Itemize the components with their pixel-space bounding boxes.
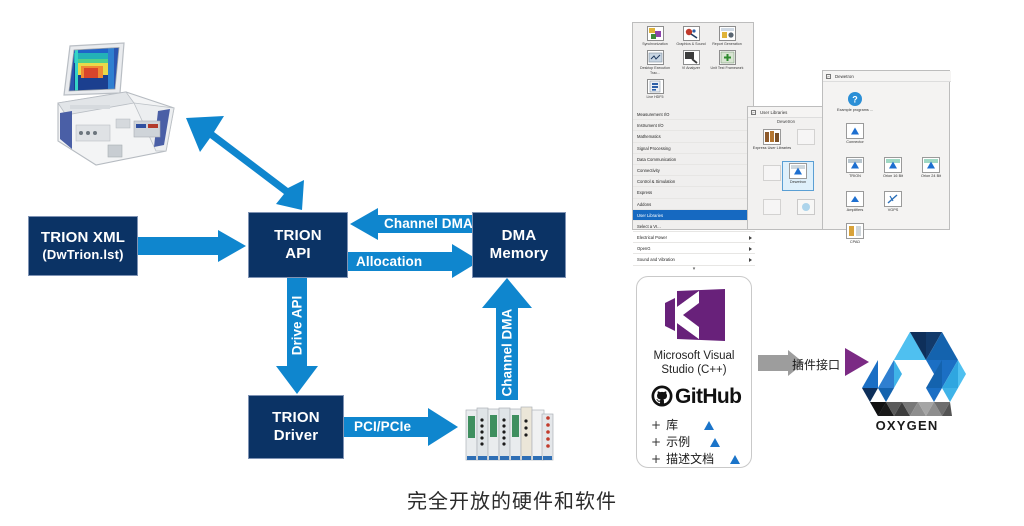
dewetron-palette-window[interactable]: ⌐ Dewetron ? Example programs ... Connec… (822, 70, 950, 230)
label-pci-pcie: PCI/PCIe (354, 419, 411, 434)
express-user-libraries-icon (763, 129, 781, 145)
bullet-marker: + (651, 418, 661, 432)
palette-icon-report-generation[interactable]: Report Generation (709, 26, 745, 46)
palette-icon-example-programs[interactable]: ? Example programs ... (833, 91, 877, 113)
bullet-label: 库 (666, 418, 678, 432)
vi-analyzer-icon (683, 50, 700, 65)
palette-icon-label: VGPS (871, 208, 915, 213)
oxygen-label: OXYGEN (842, 418, 972, 433)
arrow-channel-dma-vertical: Channel DMA (482, 278, 534, 400)
palette-icon-synchronization[interactable]: Synchronization (637, 26, 673, 46)
connector-icon (846, 123, 864, 139)
palette-icon-connector[interactable]: Connector (833, 123, 877, 145)
arrow-pci-pcie: PCI/PCIe (344, 408, 464, 446)
pin-icon[interactable]: ⌐ (751, 110, 756, 115)
dewetron-window-title-bar: ⌐ Dewetron (823, 71, 951, 82)
chevron-right-icon (749, 258, 752, 262)
trion-icon (846, 157, 864, 173)
chevron-right-icon (749, 247, 752, 251)
box-trion-api-title: TRION (274, 227, 322, 245)
triangle-icon (851, 128, 859, 135)
chevron-right-icon (749, 236, 752, 240)
palette-icon-label: Graphics & Sound (673, 42, 709, 46)
box-trion-driver[interactable]: TRION Driver (248, 395, 344, 459)
menu-item-label: Addons (637, 202, 651, 207)
github-label: GitHub (675, 385, 741, 409)
visual-studio-label-line1: Microsoft Visual (637, 349, 751, 363)
menu-item-select-a-vi[interactable]: Select a VI... (633, 221, 755, 232)
user-libraries-subtitle: Dewetron (748, 119, 824, 124)
dewetron-icon (789, 163, 807, 179)
box-trion-api[interactable]: TRION API (248, 212, 348, 278)
label-channel-dma-vertical: Channel DMA (500, 311, 515, 397)
dewetron-triangle-icon (710, 438, 720, 447)
github-list-item: +示例 (651, 434, 749, 451)
arrow-allocation: Allocation (348, 244, 482, 278)
menu-item-openg[interactable]: OpenG (633, 243, 755, 254)
box-trion-xml-title: TRION XML (41, 229, 125, 247)
palette-icon-label: Dewetron (776, 180, 820, 185)
palette-icon-unit-test-framework[interactable]: Unit Test Framework (709, 50, 745, 75)
arrow-channel-dma-top: Channel DMA (350, 208, 482, 240)
menu-item-label: Sound and Vibration (637, 257, 675, 262)
user-libraries-panel[interactable]: ⌐ User Libraries Dewetron Express User L… (747, 106, 823, 230)
functions-menu-list[interactable]: Measurement I/O Instrument I/O Mathemati… (633, 109, 755, 276)
menu-item-mathematics[interactable]: Mathematics (633, 131, 755, 142)
palette-icon-graphics-sound[interactable]: Graphics & Sound (673, 26, 709, 46)
menu-item-connectivity[interactable]: Connectivity (633, 165, 755, 176)
desktop-execution-trace-icon (647, 50, 664, 65)
bullet-marker: + (651, 435, 661, 449)
palette-icon-label: Connector (833, 140, 877, 145)
triangle-icon (889, 162, 897, 169)
live-hdf5-icon (647, 79, 664, 94)
oxygen-logo: OXYGEN (842, 312, 972, 442)
graphics-sound-icon (683, 26, 700, 41)
palette-icon-label: VI Analyzer (673, 66, 709, 70)
github-list-item: +库 (651, 417, 749, 434)
dewetron-window-title: Dewetron (835, 74, 854, 79)
menu-scroll-down-arrow[interactable]: ▾ (633, 266, 755, 276)
slide-canvas: TRION API Interface TRION XML (DwTrion.l… (0, 0, 1024, 526)
dewetron-triangle-icon (730, 455, 740, 464)
trion-modules-image (464, 404, 556, 466)
vgps-icon (884, 191, 902, 207)
menu-item-label: OpenG (637, 246, 651, 251)
palette-icon-orion-24bit[interactable]: Orion 24 Bit (909, 157, 953, 179)
placeholder-icon (763, 199, 781, 215)
dewetron-triangle-icon (794, 168, 802, 175)
menu-item-data-communication[interactable]: Data Communication (633, 154, 755, 165)
placeholder-icon (797, 129, 815, 145)
menu-item-label: Electrical Power (637, 235, 667, 240)
labview-palette-screenshot: Synchronization Graphics & Sound Report … (632, 22, 950, 234)
menu-item-label: Data Communication (637, 157, 676, 162)
palette-icon-label: Example programs ... (833, 108, 877, 113)
palette-icon-grid: Synchronization Graphics & Sound Report … (637, 26, 751, 104)
palette-icon-label: Synchronization (637, 42, 673, 46)
palette-icon-dewetron[interactable]: Dewetron (776, 163, 820, 185)
orion-16bit-icon (884, 157, 902, 173)
github-contents-list: +库 +示例 +描述文档 (651, 417, 749, 468)
label-allocation: Allocation (356, 254, 422, 269)
user-libraries-title: User Libraries (760, 110, 787, 115)
palette-icon-vi-analyzer[interactable]: VI Analyzer (673, 50, 709, 75)
orion-24bit-icon (922, 157, 940, 173)
palette-icon-desktop-execution-trace[interactable]: Desktop Execution Trac... (637, 50, 673, 75)
box-dma-memory[interactable]: DMA Memory (472, 212, 566, 278)
triangle-icon (927, 162, 935, 169)
palette-icon-live-hdf5[interactable]: Live HDF5 (637, 79, 673, 99)
report-generation-icon (719, 26, 736, 41)
box-trion-api-subtitle: API (285, 245, 311, 263)
menu-item-label: Select a VI... (637, 224, 661, 229)
menu-item-instrument-io[interactable]: Instrument I/O (633, 120, 755, 131)
box-dma-memory-subtitle: Memory (490, 245, 549, 263)
box-dma-memory-title: DMA (502, 227, 537, 245)
placeholder-icon (797, 199, 815, 215)
arrow-xml-to-api (138, 230, 248, 262)
menu-item-label: Express (637, 190, 652, 195)
bullet-label: 示例 (666, 435, 690, 449)
functions-palette-panel[interactable]: Synchronization Graphics & Sound Report … (632, 22, 754, 230)
menu-item-control-simulation[interactable]: Control & Simulation (633, 176, 755, 187)
bullet-label: 描述文档 (666, 452, 714, 466)
palette-icon-label: Unit Test Framework (709, 66, 745, 70)
palette-icon-label: CPAD (833, 240, 877, 245)
visual-studio-label-line2: Studio (C++) (637, 363, 751, 377)
menu-item-measurement-io[interactable]: Measurement I/O (633, 109, 755, 120)
label-drive-api: Drive API (290, 294, 305, 358)
triangle-icon (851, 196, 859, 202)
menu-item-label: Instrument I/O (637, 123, 664, 128)
palette-icon-label: Desktop Execution Trac... (637, 66, 673, 75)
menu-item-addons[interactable]: Addons (633, 199, 755, 210)
menu-item-label: Connectivity (637, 168, 660, 173)
github-list-item: +描述文档 (651, 451, 749, 468)
palette-icon-cpad[interactable]: CPAD (833, 223, 877, 245)
help-question-icon: ? (846, 91, 864, 107)
menu-item-label: Mathematics (637, 134, 661, 139)
github-logo-icon (651, 385, 673, 407)
box-trion-driver-subtitle: Driver (274, 427, 319, 445)
palette-icon-label: Live HDF5 (637, 95, 673, 99)
menu-item-sound-and-vibration[interactable]: Sound and Vibration (633, 254, 755, 265)
menu-item-user-libraries[interactable]: User Libraries (633, 210, 755, 221)
svg-text:?: ? (852, 95, 858, 105)
bullet-marker: + (651, 452, 661, 466)
menu-item-electrical-power[interactable]: Electrical Power (633, 232, 755, 243)
label-channel-dma-top: Channel DMA (384, 216, 473, 231)
visual-studio-logo-icon (663, 289, 727, 341)
menu-item-label: Control & Simulation (637, 179, 675, 184)
box-trion-xml-subtitle: (DwTrion.lst) (42, 247, 123, 262)
menu-item-label: User Libraries (637, 213, 663, 218)
menu-item-signal-processing[interactable]: Signal Processing (633, 143, 755, 154)
sdk-card: Microsoft Visual Studio (C++) GitHub +库 … (636, 276, 752, 468)
palette-icon-vgps[interactable]: VGPS (871, 191, 915, 213)
trion-api-interface-arrow: TRION API Interface (180, 110, 320, 215)
pin-icon[interactable]: ⌐ (826, 74, 831, 79)
plugin-interface-label: 插件接口 (792, 356, 840, 373)
synchronization-icon (647, 26, 664, 41)
box-trion-xml[interactable]: TRION XML (DwTrion.lst) (28, 216, 138, 276)
cpad-icon (846, 223, 864, 239)
unit-test-framework-icon (719, 50, 736, 65)
menu-item-label: Signal Processing (637, 146, 671, 151)
palette-icon-label: Orion 24 Bit (909, 174, 953, 179)
palette-icon-label: Report Generation (709, 42, 745, 46)
slide-caption: 完全开放的硬件和软件 (0, 485, 1024, 514)
dewetron-instrument-image (48, 33, 178, 168)
dewetron-triangle-icon (704, 421, 714, 430)
arrow-drive-api: Drive API (276, 278, 318, 394)
menu-item-express[interactable]: Express (633, 187, 755, 198)
user-libraries-title-bar: ⌐ User Libraries (748, 107, 824, 118)
amplifiers-icon (846, 191, 864, 207)
box-trion-driver-title: TRION (272, 409, 320, 427)
triangle-icon (851, 162, 859, 169)
menu-item-label: Measurement I/O (637, 112, 669, 117)
